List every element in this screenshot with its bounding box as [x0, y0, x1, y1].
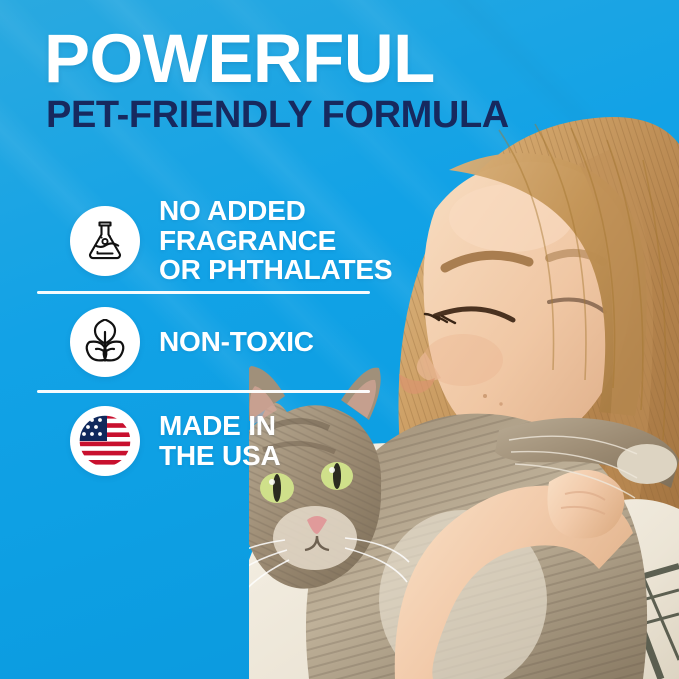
page-subtitle: PET-FRIENDLY FORMULA — [46, 96, 509, 134]
feature-divider — [37, 390, 370, 393]
usa-flag-icon — [70, 406, 140, 476]
feature-label: NON-TOXIC — [159, 327, 314, 357]
flask-icon — [70, 206, 140, 276]
headline-block: POWERFUL PET-FRIENDLY FORMULA — [44, 26, 509, 134]
feature-item-no-added-fragrance: NO ADDED FRAGRANCE OR PHTHALATES — [0, 196, 420, 285]
feature-item-non-toxic: NON-TOXIC — [0, 300, 420, 384]
feature-divider — [37, 291, 370, 294]
promo-banner: POWERFUL PET-FRIENDLY FORMULA — [0, 0, 679, 679]
feature-label: MADE IN THE USA — [159, 411, 281, 470]
plant-leaf-icon — [70, 307, 140, 377]
feature-label: NO ADDED FRAGRANCE OR PHTHALATES — [159, 196, 392, 285]
feature-item-made-in-usa: MADE IN THE USA — [0, 399, 420, 483]
feature-list: NO ADDED FRAGRANCE OR PHTHALATES NON-TOX — [0, 196, 420, 483]
page-title: POWERFUL — [44, 26, 509, 92]
